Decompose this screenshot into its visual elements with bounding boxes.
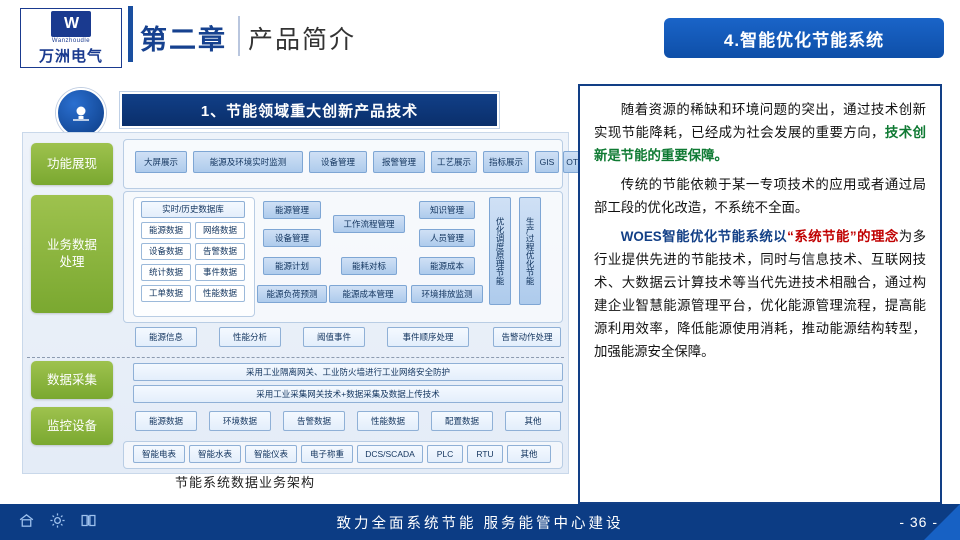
box-device-6[interactable]: RTU — [467, 445, 503, 463]
paragraph-2: 传统的节能依赖于某一专项技术的应用或者通过局部工段的优化改造，不系统不全面。 — [594, 173, 926, 219]
paragraph-1: 随着资源的稀缺和环境问题的突出，通过技术创新实现节能降耗，已经成为社会发展的重要… — [594, 98, 926, 167]
lane-data-collection: 数据采集 — [31, 361, 113, 399]
box-device-5[interactable]: PLC — [427, 445, 463, 463]
section-banner: 1、节能领域重大创新产品技术 — [120, 92, 499, 128]
footer-bar: 致力全面系统节能 服务能管中心建设 - 36 - — [0, 504, 960, 540]
box-collect-1[interactable]: 环境数据 — [209, 411, 271, 431]
topic-label: 4.智能优化节能系统 — [724, 26, 884, 51]
box-process-0[interactable]: 能源信息 — [135, 327, 197, 347]
section-banner-label: 1、节能领域重大创新产品技术 — [201, 100, 418, 121]
box-display-3[interactable]: 报警管理 — [373, 151, 425, 173]
logo-subtext: Wanzhoudle — [52, 38, 90, 44]
box-display-0[interactable]: 大屏展示 — [135, 151, 187, 173]
paragraph-3: WOES智能优化节能系统以“系统节能”的理念为多行业提供先进的节能技术，同时与信… — [594, 225, 926, 363]
box-datalib-7[interactable]: 性能数据 — [195, 285, 245, 302]
lightbulb-gear-icon — [56, 88, 106, 138]
box-device-4[interactable]: DCS/SCADA — [357, 445, 423, 463]
box-mid1-2[interactable]: 能源计划 — [263, 257, 321, 275]
p3-part-c: 为多行业提供先进的节能技术，同时与信息技术、互联网技术、大数据云计算技术等当代先… — [594, 229, 926, 359]
logo-company-name: 万洲电气 — [39, 45, 103, 66]
architecture-diagram: 功能展现 业务数据 处理 数据采集 监控设备 大屏展示 能源及环境实时监测 设备… — [22, 132, 569, 474]
box-collect-4[interactable]: 配置数据 — [431, 411, 493, 431]
box-mid1-3[interactable]: 能源负荷预测 — [257, 285, 327, 303]
box-mid2-2[interactable]: 能源成本管理 — [329, 285, 407, 303]
box-datalib-0[interactable]: 能源数据 — [141, 222, 191, 239]
box-mid2-0[interactable]: 工作流程管理 — [333, 215, 405, 233]
box-mid3-0[interactable]: 知识管理 — [419, 201, 475, 219]
p3-part-a: WOES智能优化节能系统以 — [621, 229, 787, 244]
box-mid3-3[interactable]: 环境排放监测 — [411, 285, 483, 303]
p1-part-a: 随着资源的稀缺和环境问题的突出，通过技术创新实现节能降耗，已经成为社会发展的重要… — [594, 102, 926, 140]
box-display-2[interactable]: 设备管理 — [309, 151, 367, 173]
box-process-1[interactable]: 性能分析 — [219, 327, 281, 347]
box-side-optimize-dispatch[interactable]: 优化调度原理节能 — [489, 197, 511, 305]
box-device-2[interactable]: 智能仪表 — [245, 445, 297, 463]
box-side-production-optimize[interactable]: 生产过程优化节能 — [519, 197, 541, 305]
box-datalib-2[interactable]: 统计数据 — [141, 264, 191, 281]
topic-badge: 4.智能优化节能系统 — [664, 18, 944, 58]
box-display-5[interactable]: 指标展示 — [483, 151, 529, 173]
description-panel: 随着资源的稀缺和环境问题的突出，通过技术创新实现节能降耗，已经成为社会发展的重要… — [578, 84, 942, 504]
logo-mark-icon: W — [51, 11, 91, 37]
box-device-3[interactable]: 电子称重 — [301, 445, 353, 463]
box-mid1-1[interactable]: 设备管理 — [263, 229, 321, 247]
box-mid2-1[interactable]: 能耗对标 — [341, 257, 397, 275]
box-datalib-title: 实时/历史数据库 — [141, 201, 245, 218]
lane-function-display: 功能展现 — [31, 143, 113, 185]
footer-slogan: 致力全面系统节能 服务能管中心建设 — [0, 504, 960, 540]
box-mid3-2[interactable]: 能源成本 — [419, 257, 475, 275]
slide: W Wanzhoudle 万洲电气 第二章 产品简介 4.智能优化节能系统 1、… — [0, 0, 960, 540]
chapter-subtitle: 产品简介 — [248, 20, 356, 56]
box-device-1[interactable]: 智能水表 — [189, 445, 241, 463]
box-display-4[interactable]: 工艺展示 — [431, 151, 477, 173]
box-device-7[interactable]: 其他 — [507, 445, 551, 463]
box-collect-0[interactable]: 能源数据 — [135, 411, 197, 431]
box-display-6[interactable]: GIS — [535, 151, 559, 173]
box-display-1[interactable]: 能源及环境实时监测 — [193, 151, 303, 173]
box-datalib-4[interactable]: 网络数据 — [195, 222, 245, 239]
lane-monitor-device: 监控设备 — [31, 407, 113, 445]
box-process-4[interactable]: 告警动作处理 — [493, 327, 561, 347]
p3-highlight: “系统节能”的理念 — [787, 229, 899, 244]
box-security-note: 采用工业隔离网关、工业防火墙进行工业网络安全防护 — [133, 363, 563, 381]
box-datalib-6[interactable]: 事件数据 — [195, 264, 245, 281]
box-datalib-5[interactable]: 告警数据 — [195, 243, 245, 260]
box-collect-5[interactable]: 其他 — [505, 411, 561, 431]
box-device-0[interactable]: 智能电表 — [133, 445, 185, 463]
box-collect-3[interactable]: 性能数据 — [357, 411, 419, 431]
box-mid3-1[interactable]: 人员管理 — [419, 229, 475, 247]
lane-business-data: 业务数据 处理 — [31, 195, 113, 313]
box-collect-2[interactable]: 告警数据 — [283, 411, 345, 431]
company-logo: W Wanzhoudle 万洲电气 — [20, 8, 122, 68]
box-process-2[interactable]: 阈值事件 — [303, 327, 365, 347]
box-datalib-1[interactable]: 设备数据 — [141, 243, 191, 260]
chapter-title: 第二章 — [140, 18, 227, 57]
box-collect-note: 采用工业采集网关技术+数据采集及数据上传技术 — [133, 385, 563, 403]
header-divider — [238, 16, 240, 56]
box-process-3[interactable]: 事件顺序处理 — [387, 327, 469, 347]
box-datalib-3[interactable]: 工单数据 — [141, 285, 191, 302]
header-accent-bar — [128, 6, 133, 62]
box-mid1-0[interactable]: 能源管理 — [263, 201, 321, 219]
diagram-caption: 节能系统数据业务架构 — [175, 472, 315, 491]
footer-accent — [924, 504, 960, 540]
